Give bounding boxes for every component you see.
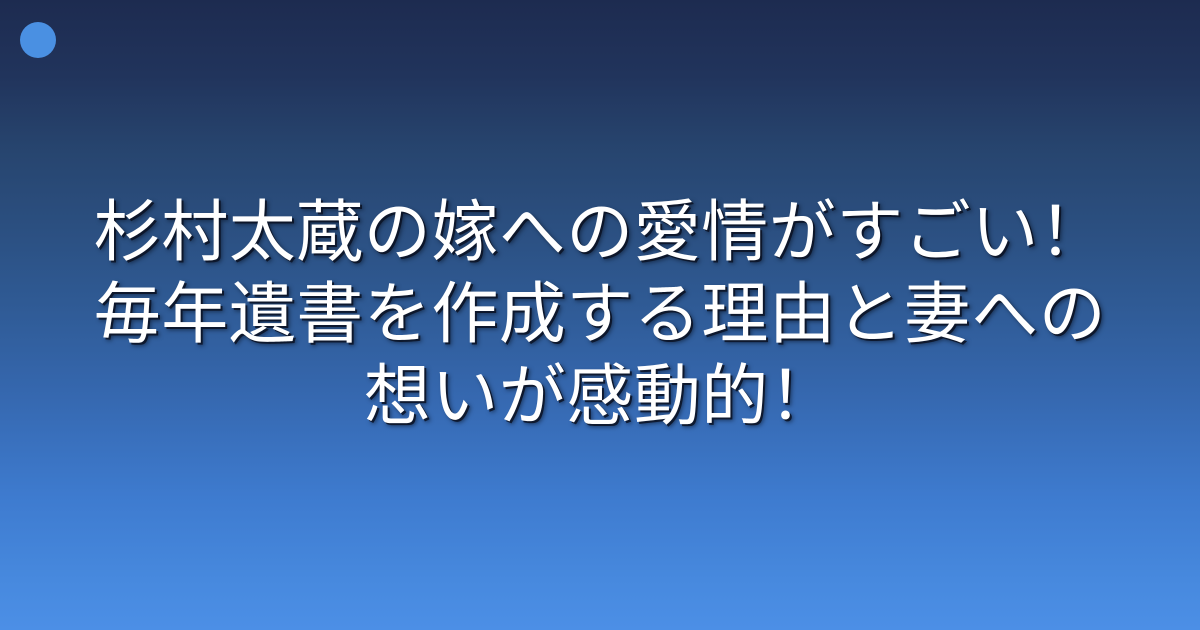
title-line-1: 杉村太蔵の嫁への愛情がすごい！ bbox=[28, 192, 1172, 274]
title-line-3: 想いが感動的！ bbox=[28, 356, 1172, 438]
page-title: 杉村太蔵の嫁への愛情がすごい！ 毎年遺書を作成する理由と妻への 想いが感動的！ bbox=[0, 0, 1200, 630]
og-image-card: 杉村太蔵の嫁への愛情がすごい！ 毎年遺書を作成する理由と妻への 想いが感動的！ bbox=[0, 0, 1200, 630]
title-line-2: 毎年遺書を作成する理由と妻への bbox=[28, 274, 1172, 356]
